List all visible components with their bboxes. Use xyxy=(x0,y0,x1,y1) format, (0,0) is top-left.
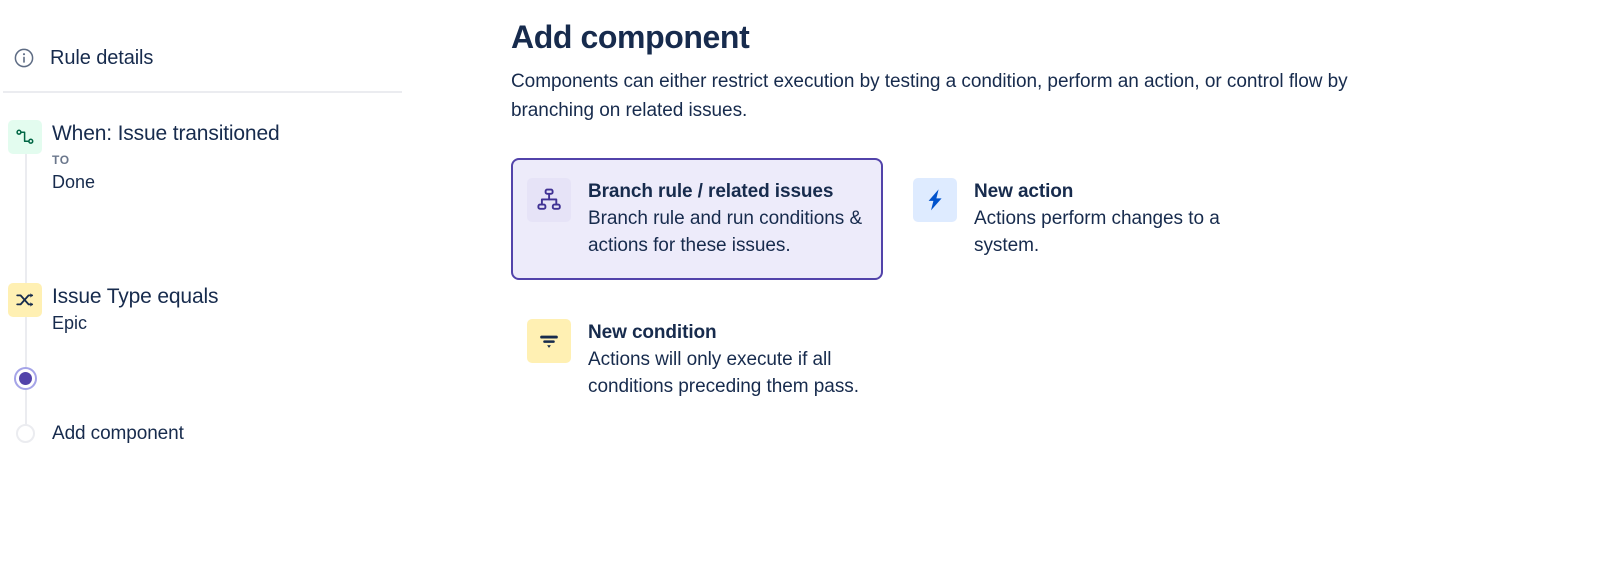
page-title: Add component xyxy=(511,16,1600,58)
timeline-node-subvalue: Epic xyxy=(52,311,440,335)
add-component-panel: Add component Components can either rest… xyxy=(440,0,1600,572)
card-description: Actions perform changes to a system. xyxy=(974,205,1264,259)
rule-timeline-sidebar: Rule details When: Issue transitioned TO… xyxy=(0,0,440,572)
shuffle-condition-icon xyxy=(8,283,42,317)
timeline-node-title: Issue Type equals xyxy=(52,283,440,310)
timeline-node-condition[interactable]: Issue Type equals Epic xyxy=(0,283,440,335)
timeline-node-sublabel: TO xyxy=(52,151,440,169)
card-new-condition[interactable]: New condition Actions will only execute … xyxy=(511,299,883,421)
rule-details-label: Rule details xyxy=(50,46,153,70)
timeline-dot-selected[interactable] xyxy=(14,367,37,390)
card-branch-rule[interactable]: Branch rule / related issues Branch rule… xyxy=(511,158,883,280)
card-title: New action xyxy=(974,179,1264,204)
timeline-node-title: When: Issue transitioned xyxy=(52,120,440,147)
sitemap-icon xyxy=(527,178,571,222)
sidebar-item-rule-details[interactable]: Rule details xyxy=(0,40,440,76)
timeline-dot-add[interactable] xyxy=(16,424,35,443)
card-description: Branch rule and run conditions & actions… xyxy=(588,205,866,259)
page-description: Components can either restrict execution… xyxy=(511,67,1416,125)
sidebar-divider xyxy=(3,91,402,93)
issue-transitioned-icon xyxy=(8,120,42,154)
timeline-node-subvalue: Done xyxy=(52,170,440,194)
lightning-bolt-icon xyxy=(913,178,957,222)
card-title: Branch rule / related issues xyxy=(588,179,866,204)
card-description: Actions will only execute if all conditi… xyxy=(588,346,866,400)
card-title: New condition xyxy=(588,320,866,345)
add-component-label[interactable]: Add component xyxy=(52,421,184,446)
filter-funnel-icon xyxy=(527,319,571,363)
card-new-action[interactable]: New action Actions perform changes to a … xyxy=(897,158,1287,280)
info-circle-icon xyxy=(12,46,36,70)
timeline-node-trigger[interactable]: When: Issue transitioned TO Done xyxy=(0,120,440,194)
add-component-screen: Rule details When: Issue transitioned TO… xyxy=(0,0,1600,572)
